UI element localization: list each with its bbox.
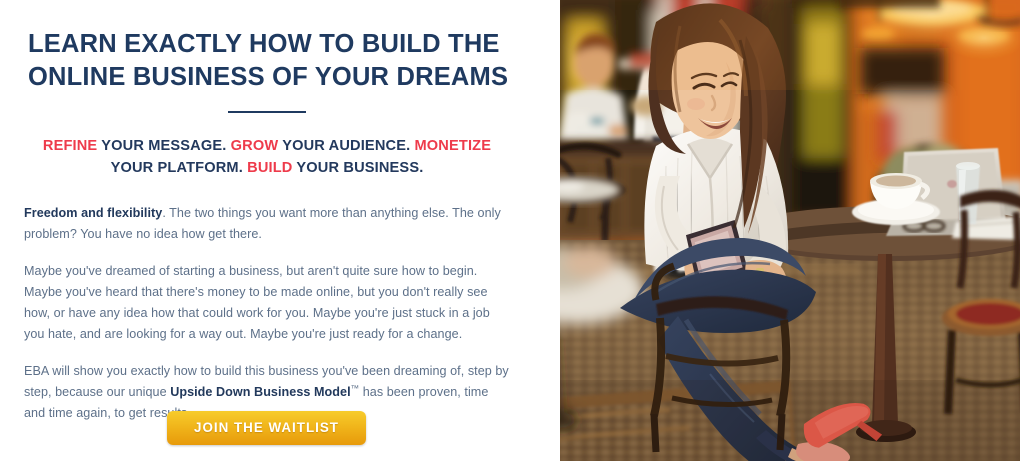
paragraph-2: Maybe you've dreamed of starting a busin… — [24, 261, 510, 344]
subhead-text-1: YOUR MESSAGE. — [97, 138, 230, 154]
cta-container: JOIN THE WAITLIST — [167, 411, 366, 445]
paragraph-3-emphasis: Upside Down Business Model — [170, 385, 350, 399]
subhead-word-grow: GROW — [231, 138, 279, 154]
landing-page-hero: LEARN EXACTLY HOW TO BUILD THE ONLINE BU… — [0, 0, 1020, 461]
subhead-text-2: YOUR AUDIENCE. — [278, 138, 414, 154]
subhead-word-refine: REFINE — [43, 138, 97, 154]
paragraph-1: Freedom and flexibility. The two things … — [24, 203, 510, 244]
cafe-woman-phone-photo — [560, 0, 1020, 461]
subhead-word-build: BUILD — [247, 160, 292, 176]
subhead-text-3: YOUR PLATFORM. — [111, 160, 248, 176]
subhead-word-monetize: MONETIZE — [415, 138, 492, 154]
page-title: LEARN EXACTLY HOW TO BUILD THE ONLINE BU… — [28, 28, 528, 94]
hero-text-column: LEARN EXACTLY HOW TO BUILD THE ONLINE BU… — [0, 0, 560, 461]
hero-body-copy: Freedom and flexibility. The two things … — [24, 203, 510, 423]
title-divider — [228, 111, 306, 113]
trademark-symbol: ™ — [351, 383, 360, 393]
join-waitlist-button[interactable]: JOIN THE WAITLIST — [167, 411, 366, 445]
hero-subheading: REFINE YOUR MESSAGE. GROW YOUR AUDIENCE.… — [28, 135, 506, 179]
paragraph-1-emphasis: Freedom and flexibility — [24, 206, 162, 220]
subhead-text-4: YOUR BUSINESS. — [292, 160, 423, 176]
